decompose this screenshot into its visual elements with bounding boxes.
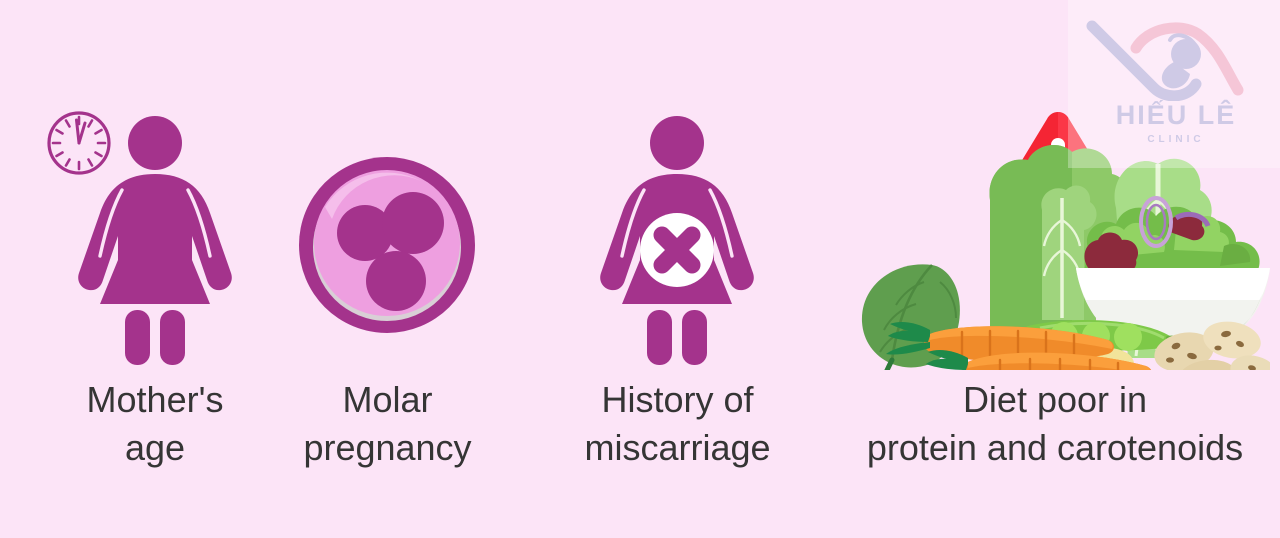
watermark-brand: HIẾU LÊ xyxy=(1076,102,1276,129)
caption-diet-poor: Diet poor in protein and carotenoids xyxy=(840,376,1270,472)
risk-factor-molar-pregnancy: Molar pregnancy xyxy=(285,90,490,490)
caption-molar-pregnancy: Molar pregnancy xyxy=(285,376,490,472)
woman-figure-icon xyxy=(78,116,232,365)
risk-factor-history-of-miscarriage: History of miscarriage xyxy=(560,90,795,490)
caption-history-of-miscarriage: History of miscarriage xyxy=(560,376,795,472)
cross-mark-icon xyxy=(640,213,714,287)
woman-with-cross-belly-icon xyxy=(560,90,795,365)
woman-with-clock-icon xyxy=(20,90,290,365)
fetus-in-womb-icon xyxy=(1076,6,1276,101)
caption-mothers-age: Mother's age xyxy=(20,376,290,472)
clinic-watermark: HIẾU LÊ CLINIC xyxy=(1076,6,1276,166)
risk-factor-mothers-age: Mother's age xyxy=(20,90,290,490)
risk-factors-infographic: Mother's age Molar pregnancy xyxy=(0,0,1280,538)
clock-icon xyxy=(49,113,109,173)
mothers-age-icon xyxy=(20,90,290,360)
miscarriage-icon xyxy=(560,90,795,360)
molar-cell-cluster-icon xyxy=(285,90,490,365)
molar-pregnancy-icon xyxy=(285,90,490,360)
watermark-tagline: CLINIC xyxy=(1076,134,1276,145)
